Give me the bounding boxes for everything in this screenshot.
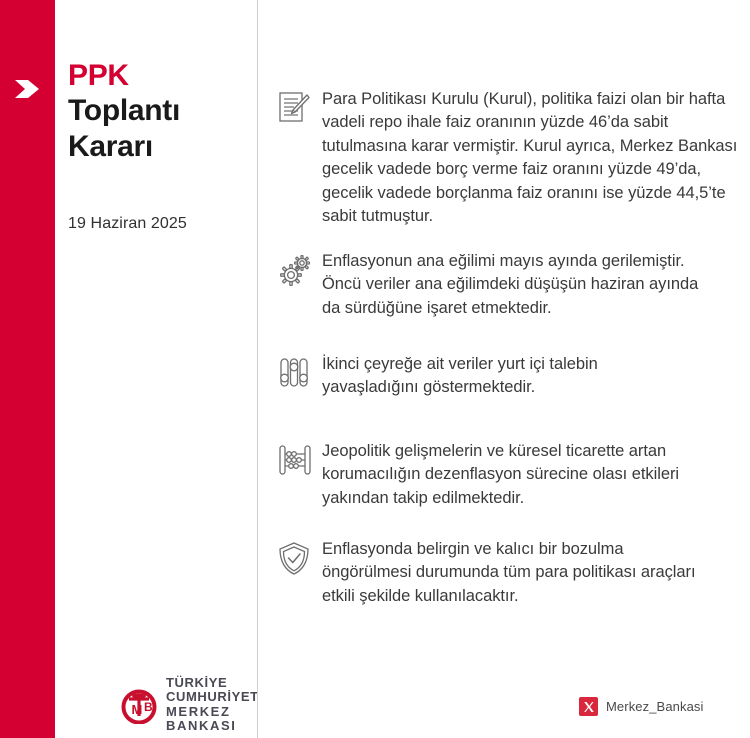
handle-text: Merkez_Bankasi bbox=[606, 699, 704, 714]
list-item: Para Politikası Kurulu (Kurul), politika… bbox=[278, 88, 750, 229]
logo-wordmark: TÜRKİYE CUMHURİYET MERKEZ BANKASI bbox=[166, 676, 259, 733]
page-title: PPK Toplantı Kararı bbox=[68, 58, 253, 164]
svg-text:B: B bbox=[144, 700, 153, 714]
item-text-5: Enflasyonda belirgin ve kalıcı bir bozul… bbox=[322, 538, 712, 608]
item-text-1: Para Politikası Kurulu (Kurul), politika… bbox=[322, 88, 742, 229]
shield-check-icon bbox=[278, 541, 310, 577]
abacus-icon bbox=[278, 443, 312, 477]
list-item: Enflasyonun ana eğilimi mayıs ayında ger… bbox=[278, 250, 718, 320]
sliders-icon bbox=[278, 356, 310, 390]
list-item: İkinci çeyreğe ait veriler yurt içi tale… bbox=[278, 353, 698, 400]
bullet-list: Para Politikası Kurulu (Kurul), politika… bbox=[278, 0, 750, 738]
item-text-4: Jeopolitik gelişmelerin ve küresel ticar… bbox=[322, 440, 742, 510]
title-column: PPK Toplantı Kararı 19 Haziran 2025 M B … bbox=[55, 0, 258, 738]
item-text-3: İkinci çeyreğe ait veriler yurt içi tale… bbox=[322, 353, 698, 400]
item-text-2: Enflasyonun ana eğilimi mayıs ayında ger… bbox=[322, 250, 712, 320]
gears-icon bbox=[278, 253, 314, 287]
x-twitter-icon bbox=[579, 697, 598, 716]
meeting-date: 19 Haziran 2025 bbox=[68, 215, 187, 233]
logo-line-1: TÜRKİYE CUMHURİYET bbox=[166, 676, 259, 705]
logo-line-2: MERKEZ BANKASI bbox=[166, 705, 259, 734]
item-icon-5 bbox=[278, 538, 322, 577]
list-item: Jeopolitik gelişmelerin ve küresel ticar… bbox=[278, 440, 746, 510]
list-item: Enflasyonda belirgin ve kalıcı bir bozul… bbox=[278, 538, 718, 608]
item-icon-1 bbox=[278, 88, 322, 125]
title-line-2: Kararı bbox=[68, 129, 253, 164]
tcmb-logo-icon: M B bbox=[119, 686, 159, 724]
brand-sidebar bbox=[0, 0, 55, 738]
document-pencil-icon bbox=[278, 91, 310, 125]
tcmb-logo: M B TÜRKİYE CUMHURİYET MERKEZ BANKASI bbox=[119, 676, 259, 733]
title-eyebrow: PPK bbox=[68, 58, 253, 93]
item-icon-3 bbox=[278, 353, 322, 390]
chevron-right-icon bbox=[12, 72, 46, 106]
social-handle[interactable]: Merkez_Bankasi bbox=[579, 697, 704, 716]
title-line-1: Toplantı bbox=[68, 93, 253, 128]
item-icon-4 bbox=[278, 440, 322, 477]
column-divider bbox=[257, 0, 258, 738]
svg-text:M: M bbox=[132, 702, 143, 717]
ppk-decision-card: PPK Toplantı Kararı 19 Haziran 2025 M B … bbox=[0, 0, 750, 738]
item-icon-2 bbox=[278, 250, 322, 287]
